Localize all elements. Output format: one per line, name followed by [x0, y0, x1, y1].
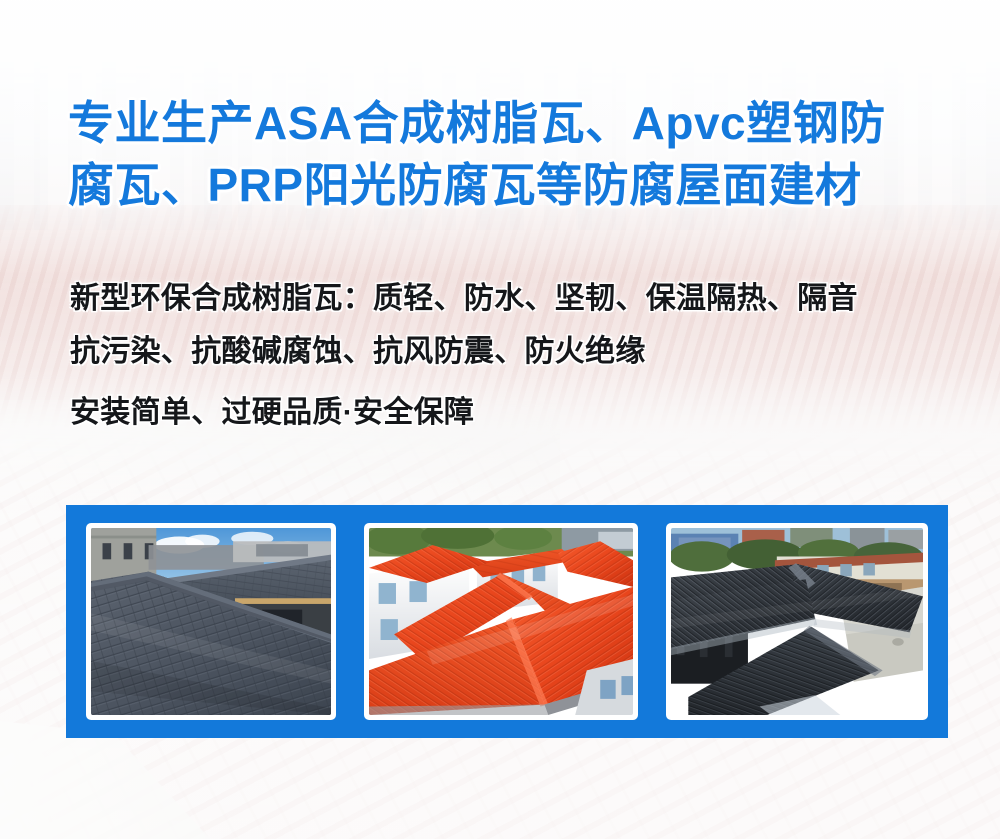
photo-card-black-roof[interactable]	[666, 523, 928, 720]
banner-content: 专业生产ASA合成树脂瓦、Apvc塑钢防 腐瓦、PRP阳光防腐瓦等防腐屋面建材 …	[0, 0, 1000, 839]
subheadline: 新型环保合成树脂瓦：质轻、防水、坚韧、保温隔热、隔音 抗污染、抗酸碱腐蚀、抗风防…	[70, 272, 950, 439]
subheadline-line-2: 抗污染、抗酸碱腐蚀、抗风防震、防火绝缘	[70, 325, 950, 378]
headline-line-1: 专业生产ASA合成树脂瓦、Apvc塑钢防	[68, 92, 948, 154]
subheadline-line-3: 安装简单、过硬品质·安全保障	[70, 386, 950, 439]
photo-gallery-panel	[66, 505, 948, 738]
photo-red-resin-tile-roof	[369, 528, 633, 715]
photo-card-red-roof[interactable]	[364, 523, 638, 720]
promo-banner: 专业生产ASA合成树脂瓦、Apvc塑钢防 腐瓦、PRP阳光防腐瓦等防腐屋面建材 …	[0, 0, 1000, 839]
photo-card-gray-roof[interactable]	[86, 523, 336, 720]
headline-line-2: 腐瓦、PRP阳光防腐瓦等防腐屋面建材	[68, 154, 948, 216]
photo-gray-resin-tile-roof	[91, 528, 331, 715]
photo-black-resin-tile-roof	[671, 528, 923, 715]
subheadline-line-1: 新型环保合成树脂瓦：质轻、防水、坚韧、保温隔热、隔音	[70, 272, 950, 325]
headline: 专业生产ASA合成树脂瓦、Apvc塑钢防 腐瓦、PRP阳光防腐瓦等防腐屋面建材	[68, 92, 948, 216]
